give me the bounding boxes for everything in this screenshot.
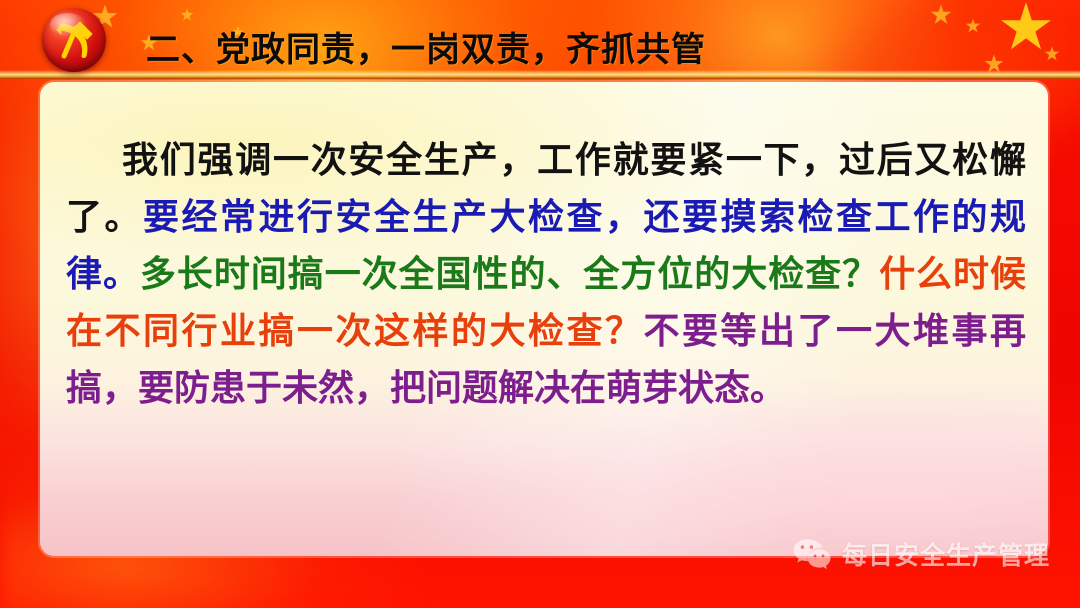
body-text-segment-2: 多长时间搞一次全国性的、全方位的大检查？ bbox=[140, 254, 879, 295]
presentation-slide: 二、党政同责，一岗双责，齐抓共管 我们强调一次安全生产，工作就要紧一下，过后又松… bbox=[0, 0, 1080, 608]
content-panel: 我们强调一次安全生产，工作就要紧一下，过后又松懈了。要经常进行安全生产大检查，还… bbox=[40, 82, 1048, 556]
slide-body-text: 我们强调一次安全生产，工作就要紧一下，过后又松懈了。要经常进行安全生产大检查，还… bbox=[66, 132, 1026, 417]
header-divider bbox=[0, 74, 1080, 79]
party-emblem-icon bbox=[42, 8, 106, 72]
slide-header: 二、党政同责，一岗双责，齐抓共管 bbox=[0, 0, 1080, 82]
slide-title: 二、党政同责，一岗双责，齐抓共管 bbox=[146, 22, 706, 71]
emblem-gloss bbox=[50, 13, 86, 36]
